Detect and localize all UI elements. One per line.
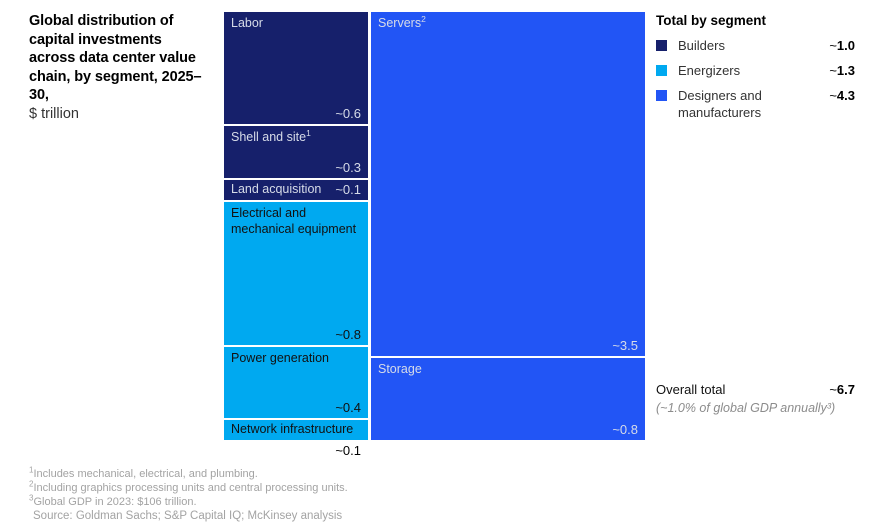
legend-item-builders[interactable]: Builders ~1.0 <box>656 37 881 54</box>
treemap-block-network-infrastructure[interactable]: Network infrastructure <box>224 420 368 440</box>
legend-label-builders: Builders <box>678 37 823 54</box>
treemap-block-land-acquisition[interactable]: Land acquisition ~0.1 <box>224 180 368 200</box>
treemap-block-storage[interactable]: Storage ~0.8 <box>371 358 645 440</box>
legend-swatch-builders <box>656 40 667 51</box>
legend-label-designers-and-manufacturers: Designers and manufacturers <box>678 87 823 121</box>
legend-value-energizers: ~1.3 <box>829 62 855 79</box>
footnote-3: 3Global GDP in 2023: $106 trillion. <box>29 496 629 510</box>
treemap-label-servers: Servers2 <box>378 16 639 32</box>
chart-legend: Total by segment Builders ~1.0 Energizer… <box>656 13 881 129</box>
treemap-value-power-generation: ~0.4 <box>335 400 361 415</box>
overall-total-note: (~1.0% of global GDP annually³) <box>656 400 881 416</box>
treemap-value-land-acquisition: ~0.1 <box>335 182 361 197</box>
source-line: Source: Goldman Sachs; S&P Capital IQ; M… <box>29 509 629 524</box>
treemap-block-servers[interactable]: Servers2 ~3.5 <box>371 12 645 356</box>
footnote-2-text: Including graphics processing units and … <box>33 482 347 494</box>
legend-swatch-energizers <box>656 65 667 76</box>
treemap-value-network-infrastructure: ~0.1 <box>335 443 361 458</box>
treemap-value-electrical-and-mechanical-equipment: ~0.8 <box>335 327 361 342</box>
treemap-block-shell-and-site[interactable]: Shell and site1 ~0.3 <box>224 126 368 178</box>
overall-total-label: Overall total <box>656 382 725 397</box>
chart-unit-label: $ trillion <box>29 105 209 124</box>
treemap-value-servers: ~3.5 <box>612 338 638 353</box>
treemap-value-shell-and-site: ~0.3 <box>335 160 361 175</box>
footnote-1: 1Includes mechanical, electrical, and pl… <box>29 468 629 482</box>
legend-label-energizers: Energizers <box>678 62 823 79</box>
treemap-label-storage: Storage <box>378 362 639 378</box>
legend-item-energizers[interactable]: Energizers ~1.3 <box>656 62 881 79</box>
legend-item-designers-and-manufacturers[interactable]: Designers and manufacturers ~4.3 <box>656 87 881 121</box>
treemap-label-power-generation: Power generation <box>231 351 362 367</box>
footnote-3-text: Global GDP in 2023: $106 trillion. <box>33 496 196 508</box>
overall-total-value: ~6.7 <box>829 381 855 398</box>
treemap-label-labor: Labor <box>231 16 362 32</box>
treemap-value-storage: ~0.8 <box>612 422 638 437</box>
footnotes-block: 1Includes mechanical, electrical, and pl… <box>29 468 629 524</box>
treemap-block-power-generation[interactable]: Power generation ~0.4 <box>224 347 368 418</box>
treemap-block-labor[interactable]: Labor ~0.6 <box>224 12 368 124</box>
chart-title-block: Global distribution of capital investmen… <box>29 12 209 123</box>
overall-total-row: Overall total ~6.7 <box>656 381 881 398</box>
legend-title: Total by segment <box>656 13 881 28</box>
treemap-label-shell-and-site: Shell and site1 <box>231 130 362 146</box>
treemap-label-electrical-and-mechanical-equipment: Electrical and mechanical equipment <box>231 206 362 237</box>
treemap-label-network-infrastructure: Network infrastructure <box>231 422 362 438</box>
legend-value-builders: ~1.0 <box>829 37 855 54</box>
treemap-chart: Labor ~0.6 Shell and site1 ~0.3 Land acq… <box>224 12 645 433</box>
page-title: Global distribution of capital investmen… <box>29 12 209 105</box>
footnote-marker-1: 1 <box>306 128 311 138</box>
treemap-block-electrical-and-mechanical-equipment[interactable]: Electrical and mechanical equipment ~0.8 <box>224 202 368 345</box>
overall-total-block: Overall total ~6.7 (~1.0% of global GDP … <box>656 381 881 416</box>
treemap-value-labor: ~0.6 <box>335 106 361 121</box>
legend-value-designers-and-manufacturers: ~4.3 <box>829 87 855 104</box>
legend-swatch-designers-and-manufacturers <box>656 90 667 101</box>
footnote-2: 2Including graphics processing units and… <box>29 482 629 496</box>
footnote-marker-2: 2 <box>421 14 426 24</box>
footnote-1-text: Includes mechanical, electrical, and plu… <box>33 468 257 480</box>
